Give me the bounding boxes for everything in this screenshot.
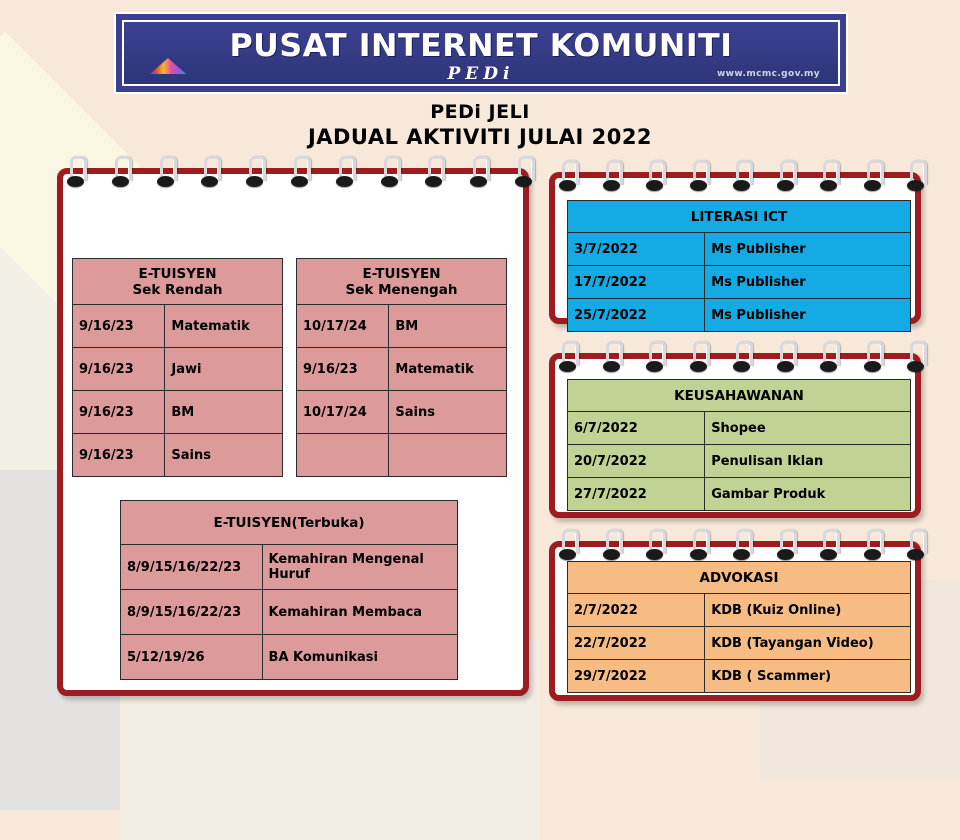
spiral-ring-wire	[867, 529, 884, 554]
spiral-ring-wire	[910, 529, 927, 554]
cell-date: 10/17/24	[297, 391, 389, 434]
spiral-ring-hole	[864, 180, 881, 191]
spiral-ring-wire	[780, 160, 797, 185]
table-row: 10/17/24 BM	[297, 305, 507, 348]
cell-activity: BA Komunikasi	[262, 635, 457, 680]
spiral-ring-wire	[204, 156, 221, 181]
spiral-ring	[780, 341, 791, 371]
spiral-ring	[780, 529, 791, 559]
cell-date: 3/7/2022	[568, 233, 705, 266]
spiral-ring	[910, 529, 921, 559]
cell-activity: Penulisan Iklan	[705, 445, 911, 478]
cell-date: 8/9/15/16/22/23	[121, 545, 263, 590]
spiral-ring-hole	[157, 176, 174, 187]
table-row: 6/7/2022 Shopee	[568, 412, 911, 445]
cell-activity: Sains	[389, 391, 507, 434]
spiral-ring	[428, 156, 439, 186]
spiral-ring	[562, 529, 573, 559]
table-header-row: E-TUISYEN Sek Menengah	[297, 259, 507, 305]
spiral-ring	[780, 160, 791, 190]
spiral-binding-ict	[555, 160, 915, 194]
spiral-ring-hole	[777, 361, 794, 372]
notepad-literasi-ict: LITERASI ICT 3/7/2022 Ms Publisher 17/7/…	[549, 172, 921, 324]
spiral-ring	[562, 160, 573, 190]
table-row: 9/16/23 BM	[73, 391, 283, 434]
spiral-ring-hole	[864, 549, 881, 560]
spiral-ring-hole	[820, 549, 837, 560]
spiral-ring-hole	[336, 176, 353, 187]
table-header-cell: E-TUISYEN(Terbuka)	[121, 501, 458, 545]
spiral-ring	[693, 341, 704, 371]
spiral-ring	[70, 156, 81, 186]
spiral-ring	[384, 156, 395, 186]
table-row: 17/7/2022 Ms Publisher	[568, 266, 911, 299]
spiral-ring	[606, 529, 617, 559]
cell-activity: KDB (Kuiz Online)	[705, 594, 911, 627]
spiral-ring-wire	[160, 156, 177, 181]
spiral-ring	[910, 160, 921, 190]
cell-date: 9/16/23	[73, 305, 165, 348]
header-line1: E-TUISYEN	[362, 266, 440, 282]
cell-activity: Kemahiran Mengenal Huruf	[262, 545, 457, 590]
cell-activity: Ms Publisher	[705, 233, 911, 266]
spiral-ring	[823, 529, 834, 559]
table-header-cell: KEUSAHAWANAN	[568, 380, 911, 412]
table-row: 9/16/23 Jawi	[73, 348, 283, 391]
spiral-ring	[204, 156, 215, 186]
cell-date: 2/7/2022	[568, 594, 705, 627]
banner-inner-frame: PUSAT INTERNET KOMUNITI PEDi www.mcmc.go…	[122, 20, 840, 86]
spiral-ring-wire	[693, 160, 710, 185]
spiral-ring	[649, 341, 660, 371]
cell-date: 17/7/2022	[568, 266, 705, 299]
notepad-keusahawanan: KEUSAHAWANAN 6/7/2022 Shopee 20/7/2022 P…	[549, 353, 921, 518]
spiral-ring-hole	[646, 180, 663, 191]
spiral-ring-wire	[70, 156, 87, 181]
cell-activity: Ms Publisher	[705, 266, 911, 299]
page-title-line2: JADUAL AKTIVITI JULAI 2022	[0, 124, 960, 150]
cell-date: 9/16/23	[73, 434, 165, 477]
spiral-ring-hole	[559, 180, 576, 191]
spiral-ring-wire	[339, 156, 356, 181]
spiral-ring-hole	[690, 361, 707, 372]
spiral-ring-wire	[562, 529, 579, 554]
table-row: 22/7/2022 KDB (Tayangan Video)	[568, 627, 911, 660]
spiral-ring-hole	[820, 180, 837, 191]
table-advokasi: ADVOKASI 2/7/2022 KDB (Kuiz Online) 22/7…	[567, 561, 911, 693]
spiral-ring-hole	[777, 180, 794, 191]
cell-activity: Shopee	[705, 412, 911, 445]
spiral-ring-hole	[690, 180, 707, 191]
spiral-ring-hole	[820, 361, 837, 372]
cell-date: 22/7/2022	[568, 627, 705, 660]
spiral-ring	[562, 341, 573, 371]
table-row-empty	[297, 434, 507, 477]
spiral-ring-hole	[907, 180, 924, 191]
spiral-ring-wire	[693, 529, 710, 554]
spiral-ring-wire	[606, 341, 623, 366]
spiral-ring-hole	[646, 361, 663, 372]
spiral-ring-wire	[823, 529, 840, 554]
spiral-ring	[339, 156, 350, 186]
spiral-ring-wire	[736, 341, 753, 366]
table-literasi-ict: LITERASI ICT 3/7/2022 Ms Publisher 17/7/…	[567, 200, 911, 332]
cell-date: 5/12/19/26	[121, 635, 263, 680]
spiral-ring	[294, 156, 305, 186]
spiral-ring-hole	[470, 176, 487, 187]
cell-activity: Matematik	[165, 305, 283, 348]
spiral-ring-wire	[384, 156, 401, 181]
spiral-ring	[867, 529, 878, 559]
spiral-ring-hole	[381, 176, 398, 187]
spiral-ring-wire	[115, 156, 132, 181]
spiral-ring-hole	[603, 361, 620, 372]
table-row: 20/7/2022 Penulisan Iklan	[568, 445, 911, 478]
spiral-ring-wire	[649, 529, 666, 554]
spiral-ring-wire	[867, 160, 884, 185]
spiral-ring-wire	[736, 160, 753, 185]
spiral-ring-wire	[649, 341, 666, 366]
spiral-ring-hole	[646, 549, 663, 560]
cell-activity: Jawi	[165, 348, 283, 391]
table-header-cell: E-TUISYEN Sek Menengah	[297, 259, 507, 305]
spiral-ring	[867, 341, 878, 371]
spiral-ring-hole	[733, 361, 750, 372]
spiral-ring-hole	[603, 180, 620, 191]
spiral-ring-wire	[780, 529, 797, 554]
spiral-ring-hole	[777, 549, 794, 560]
cell-date: 25/7/2022	[568, 299, 705, 332]
spiral-ring-wire	[780, 341, 797, 366]
spiral-ring-wire	[606, 160, 623, 185]
spiral-ring	[823, 341, 834, 371]
spiral-ring-wire	[823, 341, 840, 366]
table-row: 27/7/2022 Gambar Produk	[568, 478, 911, 511]
spiral-ring	[867, 160, 878, 190]
notepad-advokasi: ADVOKASI 2/7/2022 KDB (Kuiz Online) 22/7…	[549, 541, 921, 701]
spiral-ring	[160, 156, 171, 186]
cell-date: 6/7/2022	[568, 412, 705, 445]
table-e-tuisyen-terbuka: E-TUISYEN(Terbuka) 8/9/15/16/22/23 Kemah…	[120, 500, 458, 680]
spiral-ring-hole	[515, 176, 532, 187]
spiral-ring-wire	[910, 341, 927, 366]
cell-activity: KDB ( Scammer)	[705, 660, 911, 693]
spiral-ring-hole	[112, 176, 129, 187]
spiral-binding-left	[63, 156, 523, 190]
cell-activity: KDB (Tayangan Video)	[705, 627, 911, 660]
spiral-ring-wire	[562, 341, 579, 366]
spiral-ring-wire	[428, 156, 445, 181]
cell-date: 27/7/2022	[568, 478, 705, 511]
spiral-ring-wire	[518, 156, 535, 181]
spiral-ring	[736, 529, 747, 559]
table-row: 9/16/23 Sains	[73, 434, 283, 477]
cell-activity: Ms Publisher	[705, 299, 911, 332]
cell-activity: BM	[165, 391, 283, 434]
pedi-banner: PUSAT INTERNET KOMUNITI PEDi www.mcmc.go…	[116, 14, 846, 92]
cell-date: 8/9/15/16/22/23	[121, 590, 263, 635]
cell-activity	[389, 434, 507, 477]
spiral-ring	[736, 160, 747, 190]
page-title-line1: PEDi JELI	[0, 100, 960, 124]
spiral-ring	[649, 529, 660, 559]
page-title: PEDi JELI JADUAL AKTIVITI JULAI 2022	[0, 100, 960, 150]
spiral-ring-hole	[559, 361, 576, 372]
header-line2: Sek Rendah	[132, 282, 222, 298]
table-row: 8/9/15/16/22/23 Kemahiran Mengenal Huruf	[121, 545, 458, 590]
spiral-ring-hole	[690, 549, 707, 560]
spiral-ring-wire	[867, 341, 884, 366]
spiral-ring	[249, 156, 260, 186]
spiral-ring-hole	[907, 361, 924, 372]
spiral-ring-hole	[603, 549, 620, 560]
table-row: 3/7/2022 Ms Publisher	[568, 233, 911, 266]
spiral-ring-hole	[907, 549, 924, 560]
spiral-ring	[518, 156, 529, 186]
header-line2: Sek Menengah	[346, 282, 458, 298]
cell-date	[297, 434, 389, 477]
spiral-ring-hole	[201, 176, 218, 187]
table-keusahawanan: KEUSAHAWANAN 6/7/2022 Shopee 20/7/2022 P…	[567, 379, 911, 511]
spiral-ring	[606, 160, 617, 190]
table-row: 29/7/2022 KDB ( Scammer)	[568, 660, 911, 693]
spiral-ring-hole	[246, 176, 263, 187]
spiral-ring-wire	[823, 160, 840, 185]
table-header-row: ADVOKASI	[568, 562, 911, 594]
table-header-cell: LITERASI ICT	[568, 201, 911, 233]
cell-date: 9/16/23	[297, 348, 389, 391]
spiral-ring	[473, 156, 484, 186]
cell-activity: Kemahiran Membaca	[262, 590, 457, 635]
spiral-binding-keusahawanan	[555, 341, 915, 375]
spiral-ring	[693, 160, 704, 190]
cell-activity: Gambar Produk	[705, 478, 911, 511]
spiral-ring-hole	[291, 176, 308, 187]
cell-date: 20/7/2022	[568, 445, 705, 478]
table-row: 10/17/24 Sains	[297, 391, 507, 434]
spiral-ring	[736, 341, 747, 371]
table-row: 25/7/2022 Ms Publisher	[568, 299, 911, 332]
cell-date: 9/16/23	[73, 348, 165, 391]
table-row: 8/9/15/16/22/23 Kemahiran Membaca	[121, 590, 458, 635]
table-header-row: KEUSAHAWANAN	[568, 380, 911, 412]
spiral-ring	[823, 160, 834, 190]
banner-title: PUSAT INTERNET KOMUNITI	[117, 28, 845, 64]
header-line1: E-TUISYEN	[138, 266, 216, 282]
table-row: 5/12/19/26 BA Komunikasi	[121, 635, 458, 680]
spiral-ring-hole	[733, 180, 750, 191]
table-header-cell: ADVOKASI	[568, 562, 911, 594]
table-header-cell: E-TUISYEN Sek Rendah	[73, 259, 283, 305]
spiral-ring	[606, 341, 617, 371]
cell-date: 9/16/23	[73, 391, 165, 434]
spiral-ring-hole	[425, 176, 442, 187]
spiral-ring-wire	[910, 160, 927, 185]
table-e-tuisyen-sek-rendah: E-TUISYEN Sek Rendah 9/16/23 Matematik 9…	[72, 258, 283, 477]
mcmc-triangle-icon	[148, 56, 188, 76]
cell-activity: Sains	[165, 434, 283, 477]
spiral-ring	[693, 529, 704, 559]
notepad-left: E-TUISYEN Sek Rendah 9/16/23 Matematik 9…	[57, 168, 529, 696]
spiral-binding-advokasi	[555, 529, 915, 563]
table-e-tuisyen-sek-menengah: E-TUISYEN Sek Menengah 10/17/24 BM 9/16/…	[296, 258, 507, 477]
table-header-row: E-TUISYEN Sek Rendah	[73, 259, 283, 305]
spiral-ring-wire	[294, 156, 311, 181]
cell-activity: Matematik	[389, 348, 507, 391]
spiral-ring-hole	[864, 361, 881, 372]
spiral-ring-wire	[693, 341, 710, 366]
table-row: 2/7/2022 KDB (Kuiz Online)	[568, 594, 911, 627]
spiral-ring-hole	[733, 549, 750, 560]
table-header-row: E-TUISYEN(Terbuka)	[121, 501, 458, 545]
table-row: 9/16/23 Matematik	[297, 348, 507, 391]
cell-activity: BM	[389, 305, 507, 348]
spiral-ring-wire	[606, 529, 623, 554]
spiral-ring-wire	[736, 529, 753, 554]
cell-date: 10/17/24	[297, 305, 389, 348]
spiral-ring-hole	[559, 549, 576, 560]
banner-url: www.mcmc.gov.my	[717, 69, 820, 79]
spiral-ring	[115, 156, 126, 186]
spiral-ring-wire	[249, 156, 266, 181]
cell-date: 29/7/2022	[568, 660, 705, 693]
spiral-ring	[910, 341, 921, 371]
spiral-ring-wire	[473, 156, 490, 181]
spiral-ring-hole	[67, 176, 84, 187]
spiral-ring	[649, 160, 660, 190]
table-row: 9/16/23 Matematik	[73, 305, 283, 348]
spiral-ring-wire	[562, 160, 579, 185]
spiral-ring-wire	[649, 160, 666, 185]
table-header-row: LITERASI ICT	[568, 201, 911, 233]
